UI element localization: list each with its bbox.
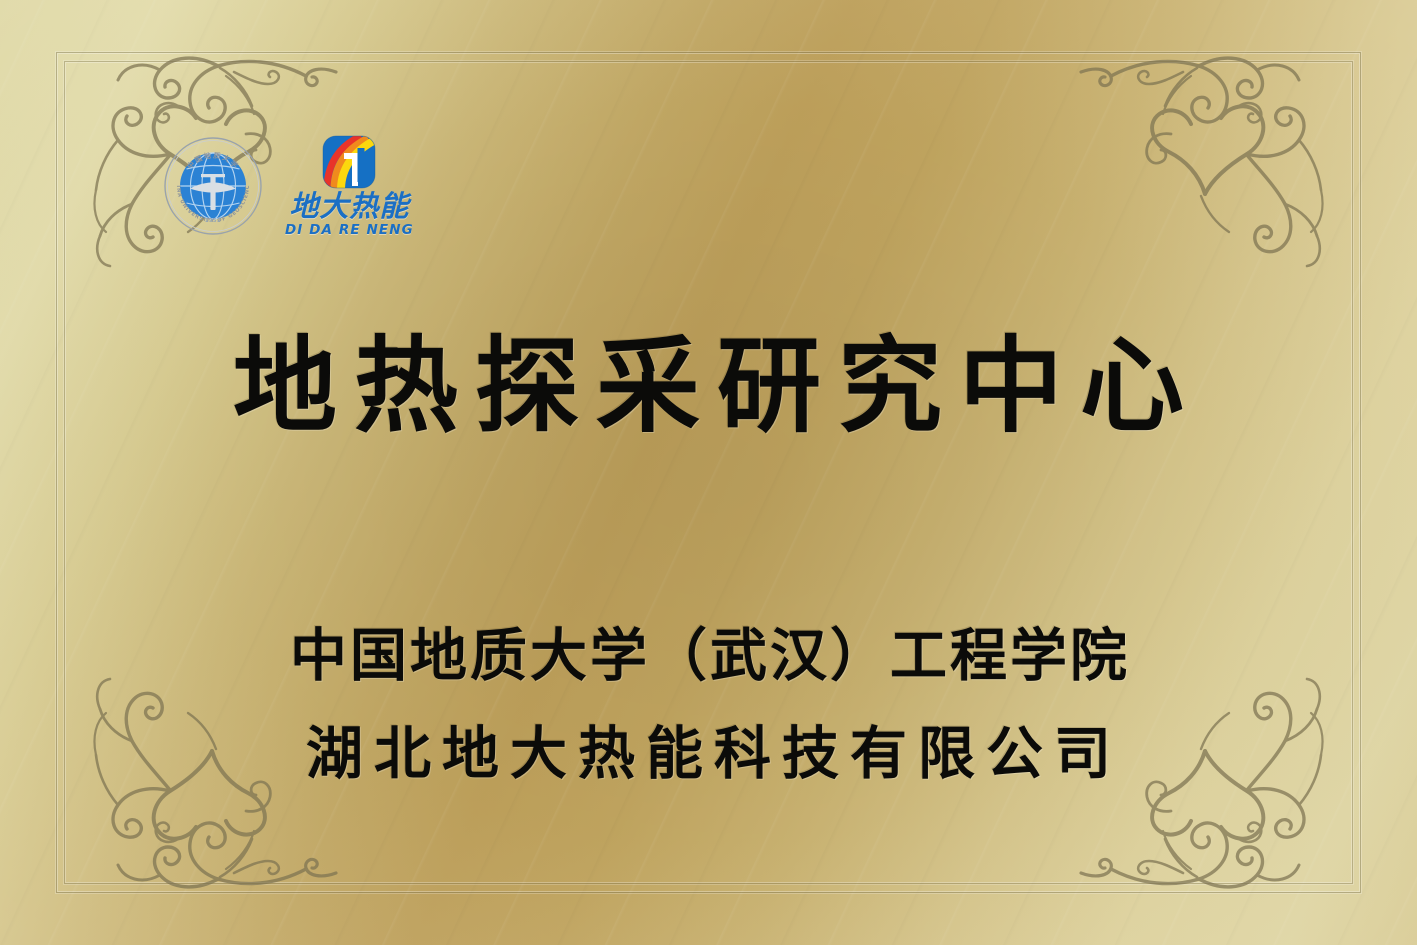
company-wordmark: 地大热能 (289, 192, 409, 221)
subtitle-block: 中国地质大学（武汉）工程学院 湖北地大热能科技有限公司 (0, 628, 1417, 783)
university-seal: 中国地质大学 CHINA UNIVERSITY OF GEOSCIENCES 1… (163, 136, 263, 236)
company-latin-name: DI DA RE NENG (285, 224, 414, 238)
seal-year: 1952 (205, 218, 221, 224)
subtitle-line-2: 湖北地大热能科技有限公司 (0, 726, 1417, 783)
subtitle-line-1: 中国地质大学（武汉）工程学院 (0, 628, 1417, 685)
company-logo: 地大热能 DI DA RE NENG (285, 134, 414, 238)
logo-row: 中国地质大学 CHINA UNIVERSITY OF GEOSCIENCES 1… (163, 134, 414, 238)
award-plaque: 中国地质大学 CHINA UNIVERSITY OF GEOSCIENCES 1… (0, 0, 1417, 945)
page-title: 地热探采研究中心 (0, 330, 1417, 442)
company-logo-mark (321, 134, 377, 190)
